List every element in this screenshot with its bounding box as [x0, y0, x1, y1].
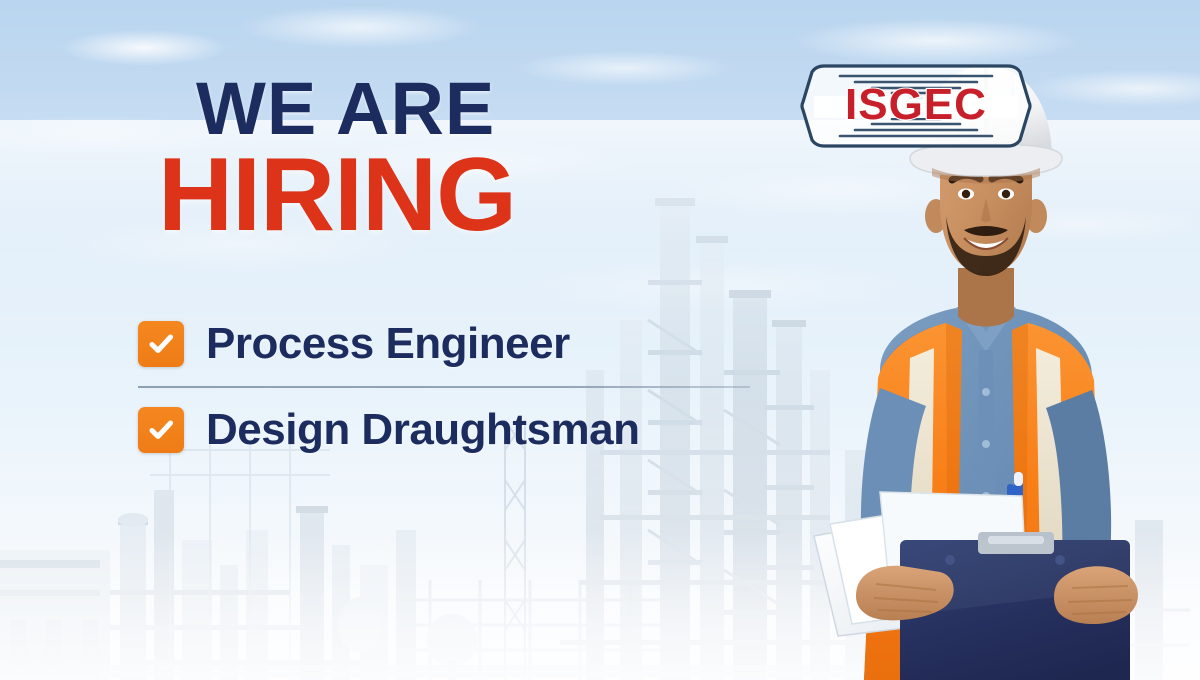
job-label: Design Draughtsman [206, 405, 640, 455]
checkbox-checked-icon[interactable] [138, 407, 184, 453]
headline-we-are: WE ARE [196, 74, 516, 144]
headline-block: WE ARE HIRING [196, 74, 516, 243]
right-hand [1054, 566, 1138, 624]
checkbox-checked-icon[interactable] [138, 321, 184, 367]
logo-wordmark: ISGEC [845, 80, 987, 129]
job-label: Process Engineer [206, 319, 570, 369]
isgec-logo: ISGEC [800, 52, 1032, 160]
headline-hiring: HIRING [158, 148, 516, 244]
job-list: Process Engineer Design Draughtsman [138, 306, 758, 468]
job-list-divider [138, 386, 750, 388]
job-item-process-engineer[interactable]: Process Engineer [138, 306, 758, 382]
job-item-design-draughtsman[interactable]: Design Draughtsman [138, 392, 758, 468]
hiring-banner: WE ARE HIRING [0, 0, 1200, 680]
